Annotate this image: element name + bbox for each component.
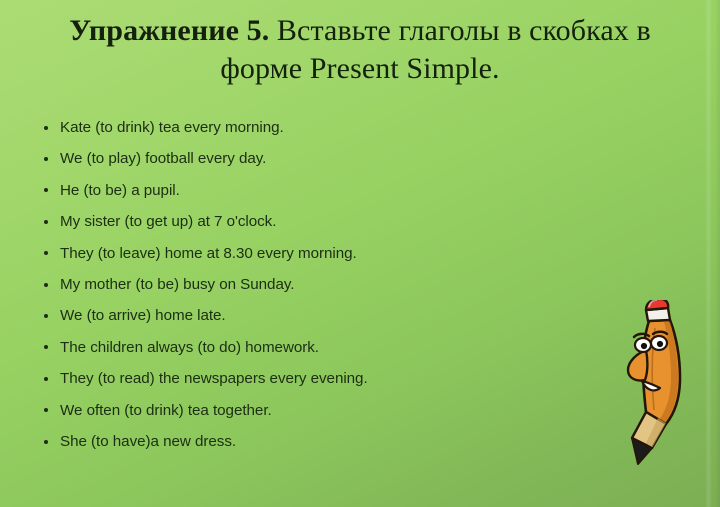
list-item: They (to read) the newspapers every even…: [44, 363, 604, 394]
list-item: We (to play) football every day.: [44, 143, 604, 174]
list-item: Kate (to drink) tea every morning.: [44, 112, 604, 143]
list-item-label: We (to arrive) home late.: [60, 307, 226, 324]
list-item: My sister (to get up) at 7 o'clock.: [44, 206, 604, 237]
title-exercise-number: Упражнение 5.: [69, 14, 269, 47]
list-item: The children always (to do) homework.: [44, 332, 604, 363]
bullet-dot-icon: [44, 314, 48, 318]
list-item-label: My sister (to get up) at 7 o'clock.: [60, 213, 276, 230]
pencil-pupil-left: [641, 343, 647, 349]
list-item-label: Kate (to drink) tea every morning.: [60, 119, 284, 136]
page-title: Упражнение 5. Вставьте глаголы в скобках…: [26, 12, 694, 88]
list-item-label: We often (to drink) tea together.: [60, 402, 272, 419]
exercise-list: Kate (to drink) tea every morning. We (t…: [44, 112, 604, 457]
pencil-nose: [628, 350, 647, 381]
list-item-label: My mother (to be) busy on Sunday.: [60, 276, 294, 293]
bullet-dot-icon: [44, 157, 48, 161]
list-item: She (to have)a new dress.: [44, 426, 604, 457]
bullet-dot-icon: [44, 345, 48, 349]
list-item: My mother (to be) busy on Sunday.: [44, 269, 604, 300]
list-item: They (to leave) home at 8.30 every morni…: [44, 238, 604, 269]
slide-right-edge-shadow: [716, 0, 720, 507]
list-item-label: She (to have)a new dress.: [60, 433, 236, 450]
list-item-label: They (to read) the newspapers every even…: [60, 370, 368, 387]
list-item-label: We (to play) football every day.: [60, 150, 266, 167]
list-item: He (to be) a pupil.: [44, 175, 604, 206]
pencil-character-illustration: [614, 300, 706, 470]
list-item-label: He (to be) a pupil.: [60, 182, 180, 199]
bullet-dot-icon: [44, 408, 48, 412]
pencil-pupil-right: [657, 341, 663, 347]
bullet-dot-icon: [44, 283, 48, 287]
bullet-dot-icon: [44, 251, 48, 255]
list-item: We often (to drink) tea together.: [44, 395, 604, 426]
title-instruction: Вставьте глаголы в скобках в форме Prese…: [220, 14, 650, 85]
bullet-dot-icon: [44, 188, 48, 192]
bullet-dot-icon: [44, 377, 48, 381]
slide-canvas: Упражнение 5. Вставьте глаголы в скобках…: [0, 0, 720, 507]
list-item-label: The children always (to do) homework.: [60, 339, 319, 356]
bullet-dot-icon: [44, 126, 48, 130]
list-item-label: They (to leave) home at 8.30 every morni…: [60, 245, 357, 262]
list-item: We (to arrive) home late.: [44, 300, 604, 331]
bullet-dot-icon: [44, 220, 48, 224]
slide-right-edge-highlight: [705, 0, 712, 507]
bullet-dot-icon: [44, 440, 48, 444]
